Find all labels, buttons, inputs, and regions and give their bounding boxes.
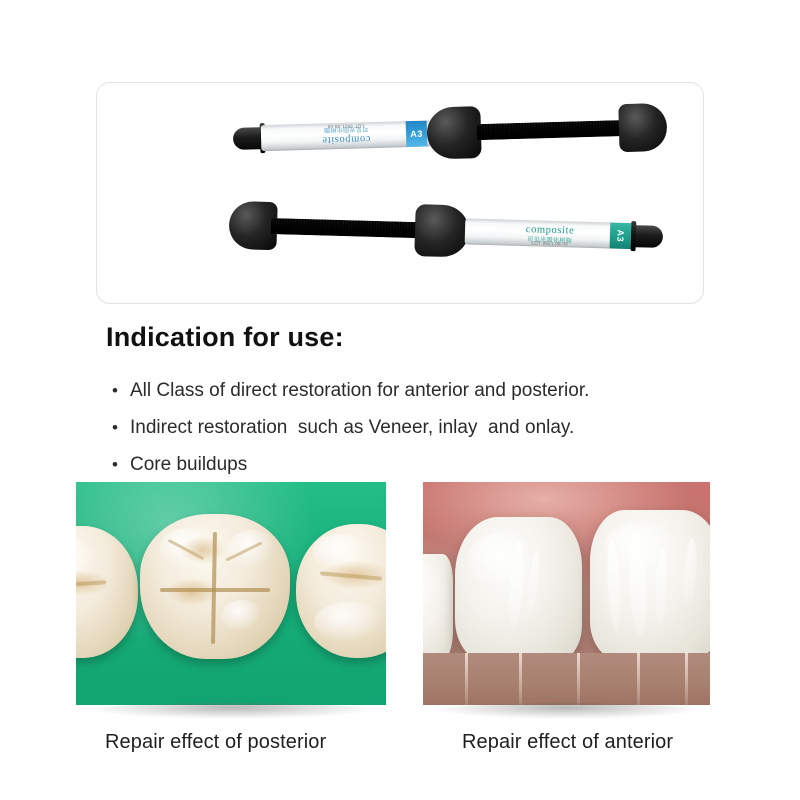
list-item: Core buildups <box>112 446 712 483</box>
tooth-gap-line <box>637 653 640 705</box>
stain-spot <box>166 578 218 606</box>
posterior-photo-caption: Repair effect of posterior <box>105 731 326 754</box>
tooth-gap-line <box>465 653 468 705</box>
composite-syringe-top: composite 可见光固化树脂 LOT 9921.08.08 A3 <box>226 97 668 169</box>
syringe-shade-band: A3 <box>406 121 428 148</box>
enamel-gloss <box>222 600 262 632</box>
adjacent-tooth <box>423 554 453 660</box>
incisor-left <box>455 517 582 663</box>
posterior-photo-shadow <box>88 703 376 719</box>
syringe-plunger-shaft-icon <box>271 218 421 238</box>
enamel-gloss <box>604 522 674 572</box>
enamel-gloss <box>467 533 533 587</box>
posterior-photo <box>76 482 386 705</box>
syringe-cap-icon <box>233 127 264 150</box>
indication-list: All Class of direct restoration for ante… <box>112 372 712 483</box>
anterior-photo <box>423 482 710 705</box>
syringe-plunger-thumb-icon <box>618 103 667 152</box>
incisor-right <box>590 510 710 660</box>
indication-heading: Indication for use: <box>106 322 344 353</box>
molar-center <box>140 514 290 659</box>
list-item: Indirect restoration such as Veneer, inl… <box>112 409 712 446</box>
syringe-barrel: composite 可见光固化树脂 LOT 9921.08.08 A3 <box>261 120 432 151</box>
syringe-shade-band: A3 <box>610 223 632 250</box>
enamel-gloss <box>314 602 384 642</box>
lower-teeth <box>423 653 710 705</box>
syringe-shade-label: A3 <box>406 121 428 148</box>
tooth-gap-line <box>519 653 522 705</box>
tooth-gap-line <box>685 653 688 705</box>
syringe-plunger-shaft-icon <box>477 120 627 140</box>
syringe-plunger-flange-icon <box>426 106 481 159</box>
list-item: All Class of direct restoration for ante… <box>112 372 712 409</box>
stain-spot <box>180 536 226 564</box>
syringe-cap-ring-icon <box>631 221 637 251</box>
tooth-gap-line <box>577 653 580 705</box>
syringe-barrel: composite 可见光固化树脂 LOT 9921.08.08 A3 <box>465 218 636 249</box>
composite-syringe-bottom: composite 可见光固化树脂 LOT 9921.08.08 A3 <box>228 195 670 267</box>
product-image-card: composite 可见光固化树脂 LOT 9921.08.08 A3 comp… <box>96 82 704 304</box>
enamel-gloss <box>312 534 368 570</box>
syringe-plunger-flange-icon <box>414 204 469 257</box>
anterior-photo-shadow <box>432 703 702 719</box>
syringe-cap-icon <box>633 225 664 248</box>
enamel-streak <box>682 538 699 609</box>
anterior-photo-caption: Repair effect of anterior <box>462 731 673 754</box>
